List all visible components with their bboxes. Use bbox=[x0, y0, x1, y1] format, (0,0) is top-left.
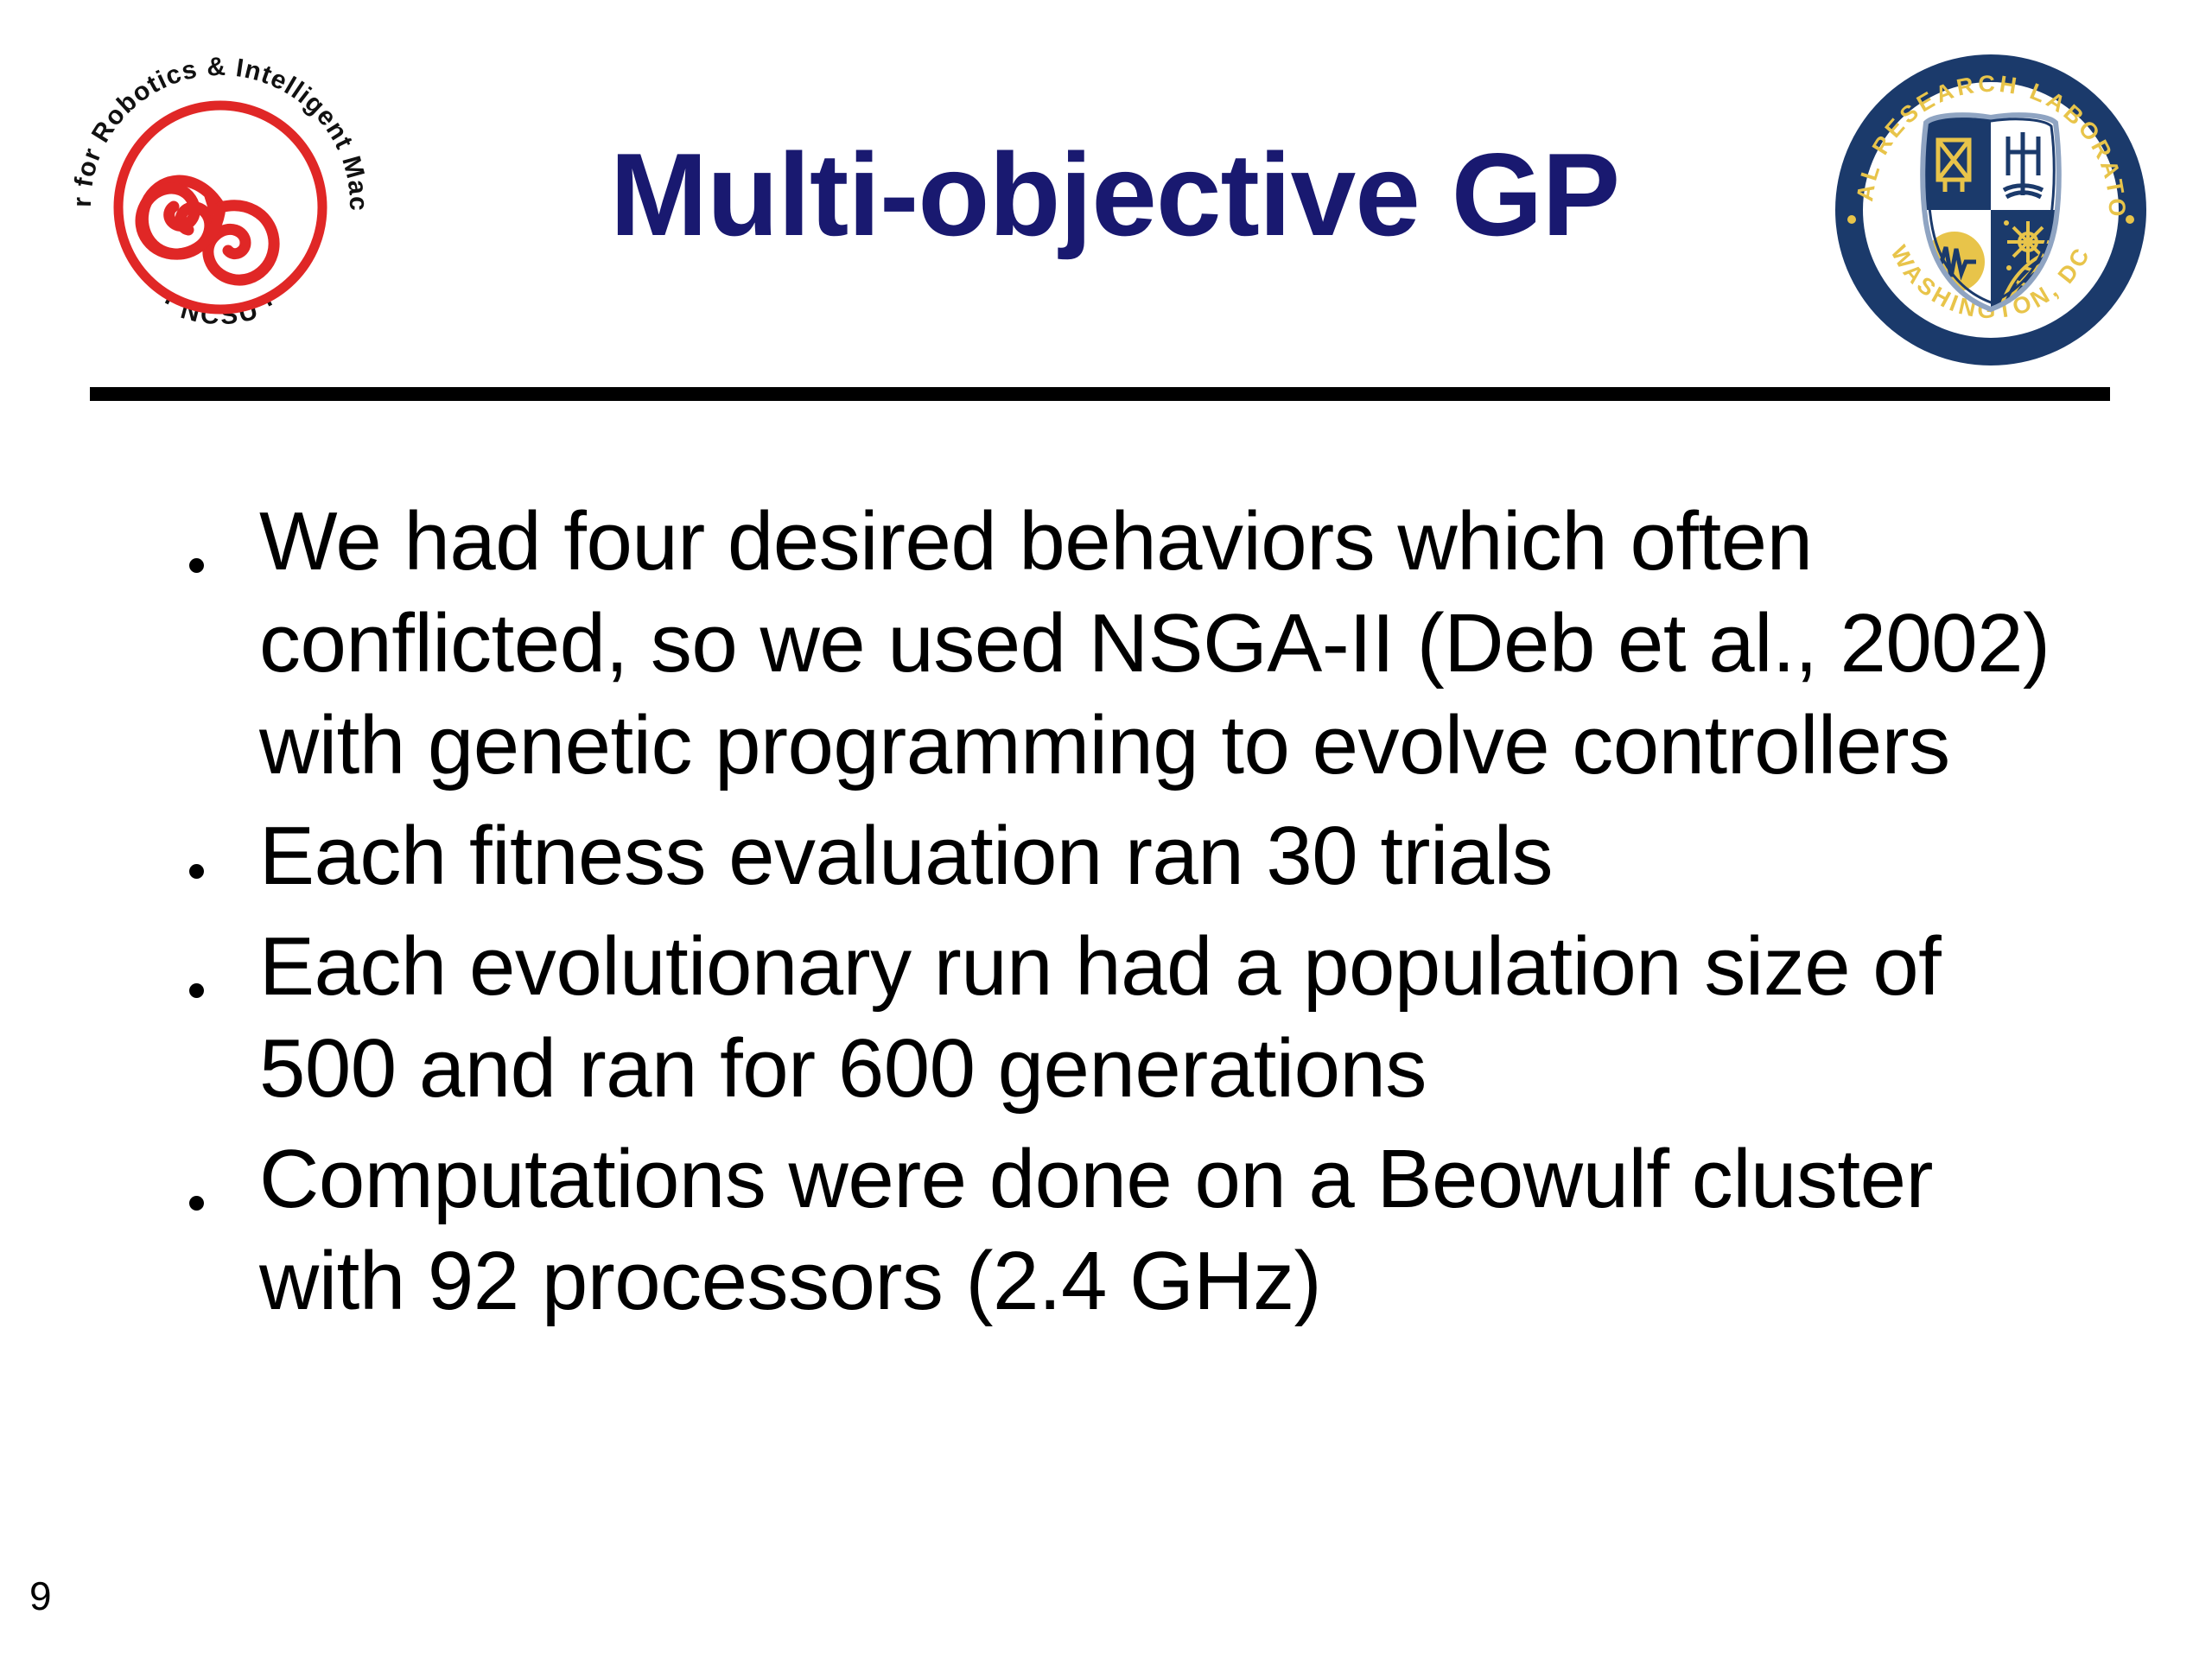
naval-research-laboratory-seal: NAVAL RESEARCH LABORATORY WASHINGTON, DC bbox=[1831, 50, 2151, 370]
list-item-label: Each fitness evaluation ran 30 trials bbox=[259, 805, 2100, 907]
crim-ncsu-logo: Center for Robotics & Intelligent Machin… bbox=[52, 36, 389, 373]
list-item-label: Each evolutionary run had a population s… bbox=[259, 916, 2100, 1120]
slide-body-bullet-list: We had four desired behaviors which ofte… bbox=[164, 491, 2100, 1341]
bullet-dot-icon bbox=[181, 969, 211, 1004]
list-item-label: Computations were done on a Beowulf clus… bbox=[259, 1128, 2100, 1332]
list-item: Each fitness evaluation ran 30 trials bbox=[164, 805, 2100, 907]
list-item-label: We had four desired behaviors which ofte… bbox=[259, 491, 2100, 797]
bullet-dot-icon bbox=[181, 850, 211, 885]
list-item: Computations were done on a Beowulf clus… bbox=[164, 1128, 2100, 1332]
presentation-slide: Center for Robotics & Intelligent Machin… bbox=[0, 0, 2212, 1659]
list-item: We had four desired behaviors which ofte… bbox=[164, 491, 2100, 797]
bullet-dot-icon bbox=[181, 1182, 211, 1217]
bullet-dot-icon bbox=[181, 544, 211, 579]
header-divider bbox=[90, 387, 2110, 401]
list-item: Each evolutionary run had a population s… bbox=[164, 916, 2100, 1120]
page-title: Multi-objective GP bbox=[449, 130, 1780, 259]
page-number: 9 bbox=[29, 1574, 52, 1618]
slide-header: Center for Robotics & Intelligent Machin… bbox=[0, 0, 2212, 406]
